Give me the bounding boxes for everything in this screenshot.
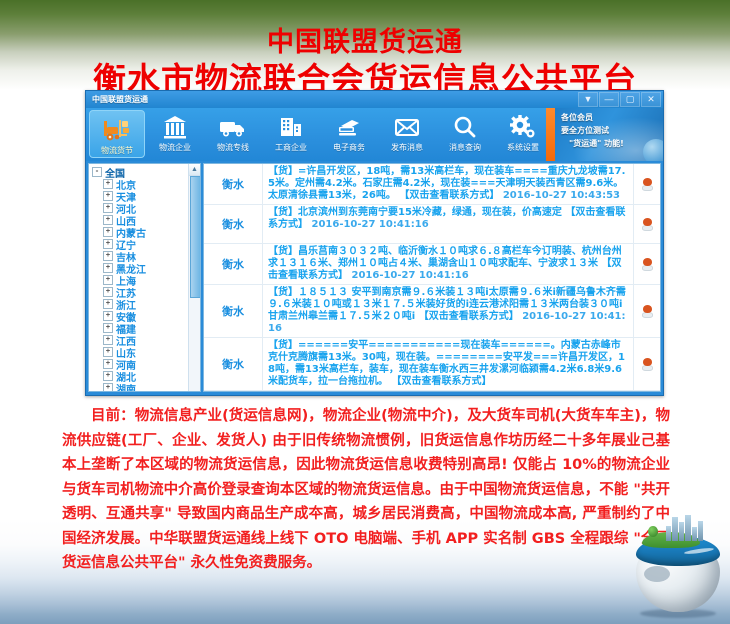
- globe-illustration: [630, 512, 726, 616]
- tree-toggle-icon[interactable]: +: [103, 251, 113, 261]
- toolbar-item-logistics-company[interactable]: 物流企业: [146, 108, 204, 161]
- toolbar-item-label: 物流企业: [159, 142, 191, 153]
- tree-toggle-icon[interactable]: +: [103, 179, 113, 189]
- toolbar-item-system-settings[interactable]: 系统设置: [494, 108, 552, 161]
- message-list: 衡水【货】=许昌开发区，18吨，需13米高栏车，现在装车====重庆九龙坡需17…: [204, 164, 660, 391]
- region-tree-panel: - 全国 +北京+天津+河北+山西+内蒙古+辽宁+吉林+黑龙江+上海+江苏+浙江…: [88, 163, 201, 392]
- row-timestamp: 2016-10-27 10:41:16: [311, 219, 428, 230]
- toolbar-item-label: 消息查询: [449, 142, 481, 153]
- window-menu-button[interactable]: ▼: [578, 92, 598, 107]
- tree-item-15[interactable]: +河南: [92, 358, 189, 370]
- scroll-up-arrow-icon[interactable]: ▲: [189, 164, 200, 176]
- toolbar-item-label: 物流货节: [101, 145, 133, 156]
- qq-contact-icon[interactable]: [642, 218, 653, 231]
- truck-icon: [218, 112, 248, 141]
- window-titlebar: 中国联盟货运通 ▼ — ▢ ✕: [86, 91, 663, 108]
- globe-city-skyline: [666, 515, 704, 541]
- row-message-text[interactable]: 【货】１８５１３ 安平到南京需９.６米装１３吨ⅰ太原需９.６米ⅰ新疆乌鲁木齐需９…: [263, 285, 633, 337]
- office-building-icon: [278, 112, 304, 141]
- row-icon-cell: [633, 285, 660, 337]
- toolbar-item-label: 电子商务: [333, 142, 365, 153]
- toolbar-item-logistics-goods[interactable]: 物流货节: [89, 110, 145, 158]
- tree-toggle-icon[interactable]: +: [103, 227, 113, 237]
- search-icon: [452, 112, 478, 141]
- banner-content[interactable]: 各位会员 要全方位测试 "货运通" 功能!: [555, 108, 663, 161]
- tree-toggle-icon[interactable]: +: [103, 191, 113, 201]
- tree-toggle-icon[interactable]: +: [103, 215, 113, 225]
- globe-tree-icon: [648, 526, 658, 537]
- row-timestamp: 2016-10-27 10:43:53: [503, 190, 620, 201]
- row-icon-cell: [633, 205, 660, 243]
- tree-scrollbar[interactable]: ▲: [188, 164, 200, 391]
- toolbar-item-message-query[interactable]: 消息查询: [436, 108, 494, 161]
- tree-item-5[interactable]: +辽宁: [92, 238, 189, 250]
- tree-toggle-icon[interactable]: +: [103, 287, 113, 297]
- tree-toggle-icon[interactable]: +: [103, 299, 113, 309]
- row-region-label: 衡水: [204, 244, 263, 284]
- toolbar-item-label: 物流专线: [217, 142, 249, 153]
- app-toolbar: 物流货节 物流企业: [86, 108, 663, 161]
- toolbar-item-logistics-line[interactable]: 物流专线: [204, 108, 262, 161]
- tree-toggle-icon[interactable]: +: [103, 335, 113, 345]
- row-icon-cell: [633, 338, 660, 390]
- tree-toggle-icon[interactable]: +: [103, 311, 113, 321]
- row-region-label: 衡水: [204, 338, 263, 390]
- tree-item-list: +北京+天津+河北+山西+内蒙古+辽宁+吉林+黑龙江+上海+江苏+浙江+安徽+福…: [92, 178, 189, 391]
- row-message-body: 【货】======安平===========现在装车======。内蒙古赤峰市克…: [268, 340, 625, 387]
- message-list-panel: 衡水【货】=许昌开发区，18吨，需13米高栏车，现在装车====重庆九龙坡需17…: [203, 163, 661, 392]
- tree-item-13[interactable]: +江西: [92, 334, 189, 346]
- tree-item-8[interactable]: +上海: [92, 274, 189, 286]
- toolbar-item-label: 工商企业: [275, 142, 307, 153]
- tree-item-1[interactable]: +天津: [92, 190, 189, 202]
- tree-toggle-icon[interactable]: +: [103, 263, 113, 273]
- tree-item-4[interactable]: +内蒙古: [92, 226, 189, 238]
- toolbar-item-label: 发布消息: [391, 142, 423, 153]
- scrollbar-thumb[interactable]: [190, 176, 201, 298]
- page-root: 中国联盟货运通 衡水市物流联合会货运信息公共平台 中国联盟货运通 ▼ — ▢ ✕: [0, 0, 730, 624]
- row-region-label: 衡水: [204, 285, 263, 337]
- tree-item-label: 湖南: [116, 381, 136, 392]
- table-row[interactable]: 衡水【货】======安平===========现在装车======。内蒙古赤峰…: [204, 338, 660, 391]
- tree-item-root[interactable]: - 全国: [92, 166, 189, 178]
- row-region-label: 衡水: [204, 205, 263, 243]
- tree-toggle-icon[interactable]: +: [103, 323, 113, 333]
- qq-contact-icon[interactable]: [642, 178, 653, 191]
- tree-toggle-icon[interactable]: +: [103, 203, 113, 213]
- banner-globe-icon: [643, 139, 663, 161]
- tree-item-17[interactable]: +湖南: [92, 382, 189, 391]
- row-icon-cell: [633, 164, 660, 204]
- qq-contact-icon[interactable]: [642, 258, 653, 271]
- row-timestamp: 2016-10-27 10:41:16: [351, 270, 468, 281]
- table-row[interactable]: 衡水【货】１８５１３ 安平到南京需９.６米装１３吨ⅰ太原需９.６米ⅰ新疆乌鲁木齐…: [204, 285, 660, 338]
- tree-item-14[interactable]: +山东: [92, 346, 189, 358]
- tree-item-2[interactable]: +河北: [92, 202, 189, 214]
- toolbar-item-industrial-company[interactable]: 工商企业: [262, 108, 320, 161]
- qq-contact-icon[interactable]: [642, 305, 653, 318]
- toolbar-item-publish-message[interactable]: 发布消息: [378, 108, 436, 161]
- tree-item-16[interactable]: +湖北: [92, 370, 189, 382]
- banner-accent-bar: [546, 108, 555, 161]
- tree-item-9[interactable]: +江苏: [92, 286, 189, 298]
- building-icon: [162, 112, 188, 141]
- footer-faint-text: [0, 608, 730, 624]
- tree-item-11[interactable]: +安徽: [92, 310, 189, 322]
- envelope-icon: [393, 112, 421, 141]
- region-tree: - 全国 +北京+天津+河北+山西+内蒙古+辽宁+吉林+黑龙江+上海+江苏+浙江…: [89, 164, 189, 391]
- banner-line-2: 要全方位测试: [561, 124, 659, 137]
- gear-icon: [509, 112, 537, 141]
- row-message-text[interactable]: 【货】北京滨州到东莞南宁要15米冷藏，绿通，现在装，价高速定 【双击查看联系方式…: [263, 205, 633, 243]
- app-window: 中国联盟货运通 ▼ — ▢ ✕: [85, 90, 664, 396]
- toolbar-item-label: 系统设置: [507, 142, 539, 153]
- window-maximize-button[interactable]: ▢: [620, 92, 640, 107]
- tree-item-0[interactable]: +北京: [92, 178, 189, 190]
- tree-toggle-icon[interactable]: +: [103, 371, 113, 381]
- qq-contact-icon[interactable]: [642, 358, 653, 371]
- app-body: - 全国 +北京+天津+河北+山西+内蒙古+辽宁+吉林+黑龙江+上海+江苏+浙江…: [86, 161, 663, 394]
- tree-item-12[interactable]: +福建: [92, 322, 189, 334]
- tree-item-10[interactable]: +浙江: [92, 298, 189, 310]
- row-message-text[interactable]: 【货】昌乐莒南３０３２吨、临沂衡水１０吨求６.８高栏车今订明装、杭州台州求１３１…: [263, 244, 633, 284]
- tree-toggle-icon[interactable]: +: [103, 383, 113, 391]
- tree-toggle-icon[interactable]: +: [103, 239, 113, 249]
- description-paragraph: 目前：物流信息产业(货运信息网)，物流企业(物流中介)，及大货车司机(大货车车主…: [62, 404, 670, 576]
- cash-register-icon: [335, 112, 363, 141]
- tree-item-7[interactable]: +黑龙江: [92, 262, 189, 274]
- row-message-text[interactable]: 【货】=许昌开发区，18吨，需13米高栏车，现在装车====重庆九龙坡需17.5…: [263, 164, 633, 204]
- row-message-text[interactable]: 【货】======安平===========现在装车======。内蒙古赤峰市克…: [263, 338, 633, 390]
- forklift-icon: [102, 115, 132, 144]
- table-row[interactable]: 衡水【货】昌乐莒南３０３２吨、临沂衡水１０吨求６.８高栏车今订明装、杭州台州求１…: [204, 244, 660, 285]
- window-close-button[interactable]: ✕: [641, 92, 661, 107]
- banner-line-1: 各位会员: [561, 111, 659, 124]
- row-region-label: 衡水: [204, 164, 263, 204]
- table-row[interactable]: 衡水【货】北京滨州到东莞南宁要15米冷藏，绿通，现在装，价高速定 【双击查看联系…: [204, 205, 660, 244]
- table-row[interactable]: 衡水【货】=许昌开发区，18吨，需13米高栏车，现在装车====重庆九龙坡需17…: [204, 164, 660, 205]
- promo-banner[interactable]: 各位会员 要全方位测试 "货运通" 功能!: [546, 108, 663, 161]
- row-icon-cell: [633, 244, 660, 284]
- tree-toggle-icon[interactable]: +: [103, 347, 113, 357]
- tree-toggle-icon[interactable]: +: [103, 359, 113, 369]
- tree-toggle-icon[interactable]: +: [103, 275, 113, 285]
- window-title: 中国联盟货运通: [92, 94, 148, 105]
- toolbar-item-ecommerce[interactable]: 电子商务: [320, 108, 378, 161]
- tree-toggle-icon[interactable]: -: [92, 167, 102, 177]
- window-minimize-button[interactable]: —: [599, 92, 619, 107]
